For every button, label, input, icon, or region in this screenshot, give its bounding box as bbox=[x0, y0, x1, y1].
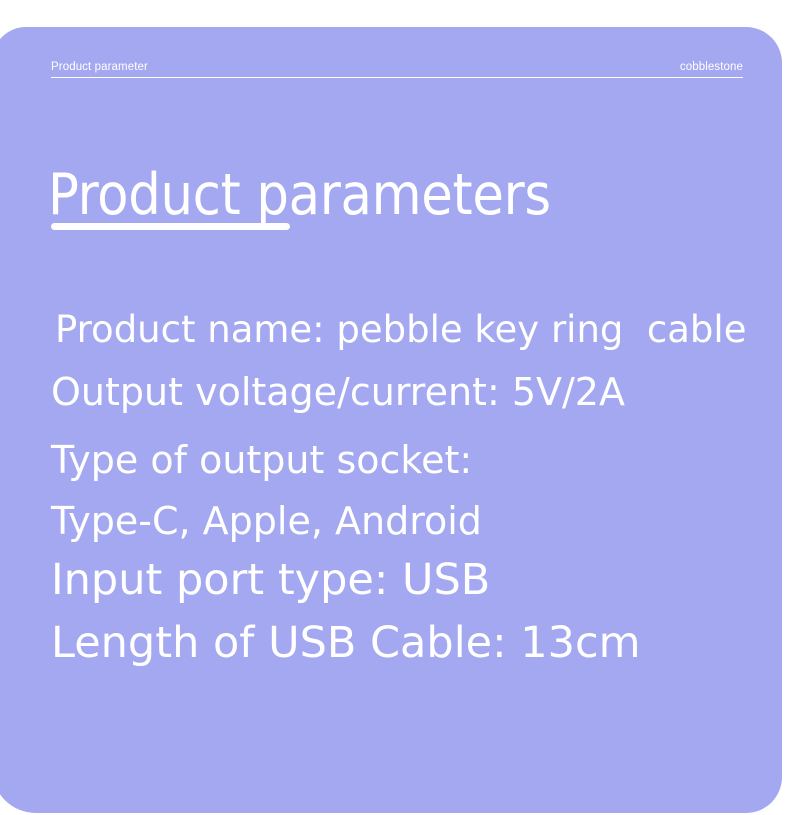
header-brand-label: cobblestone bbox=[680, 62, 743, 74]
spec-cable-length: Length of USB Cable: 13cm bbox=[51, 612, 641, 675]
title-accent-bar bbox=[51, 223, 290, 230]
spec-input-port-type: Input port type: USB bbox=[51, 549, 641, 612]
card-header-row: Product parameter cobblestone bbox=[51, 52, 743, 78]
spec-group-primary: Product name: pebble key ring cable Outp… bbox=[51, 299, 746, 546]
product-parameters-card: Product parameter cobblestone Product pa… bbox=[0, 27, 782, 813]
product-parameters-page: Product parameter cobblestone Product pa… bbox=[0, 0, 790, 815]
header-section-label: Product parameter bbox=[51, 62, 148, 74]
spec-product-name: Product name: pebble key ring cable bbox=[51, 299, 746, 361]
page-title: Product parameters bbox=[48, 164, 551, 227]
spec-output-socket-label: Type of output socket: bbox=[51, 423, 746, 497]
spec-group-secondary: Input port type: USB Length of USB Cable… bbox=[51, 549, 641, 675]
spec-output-socket-values: Type-C, Apple, Android bbox=[51, 497, 746, 546]
spec-output-voltage-current: Output voltage/current: 5V/2A bbox=[51, 361, 746, 423]
